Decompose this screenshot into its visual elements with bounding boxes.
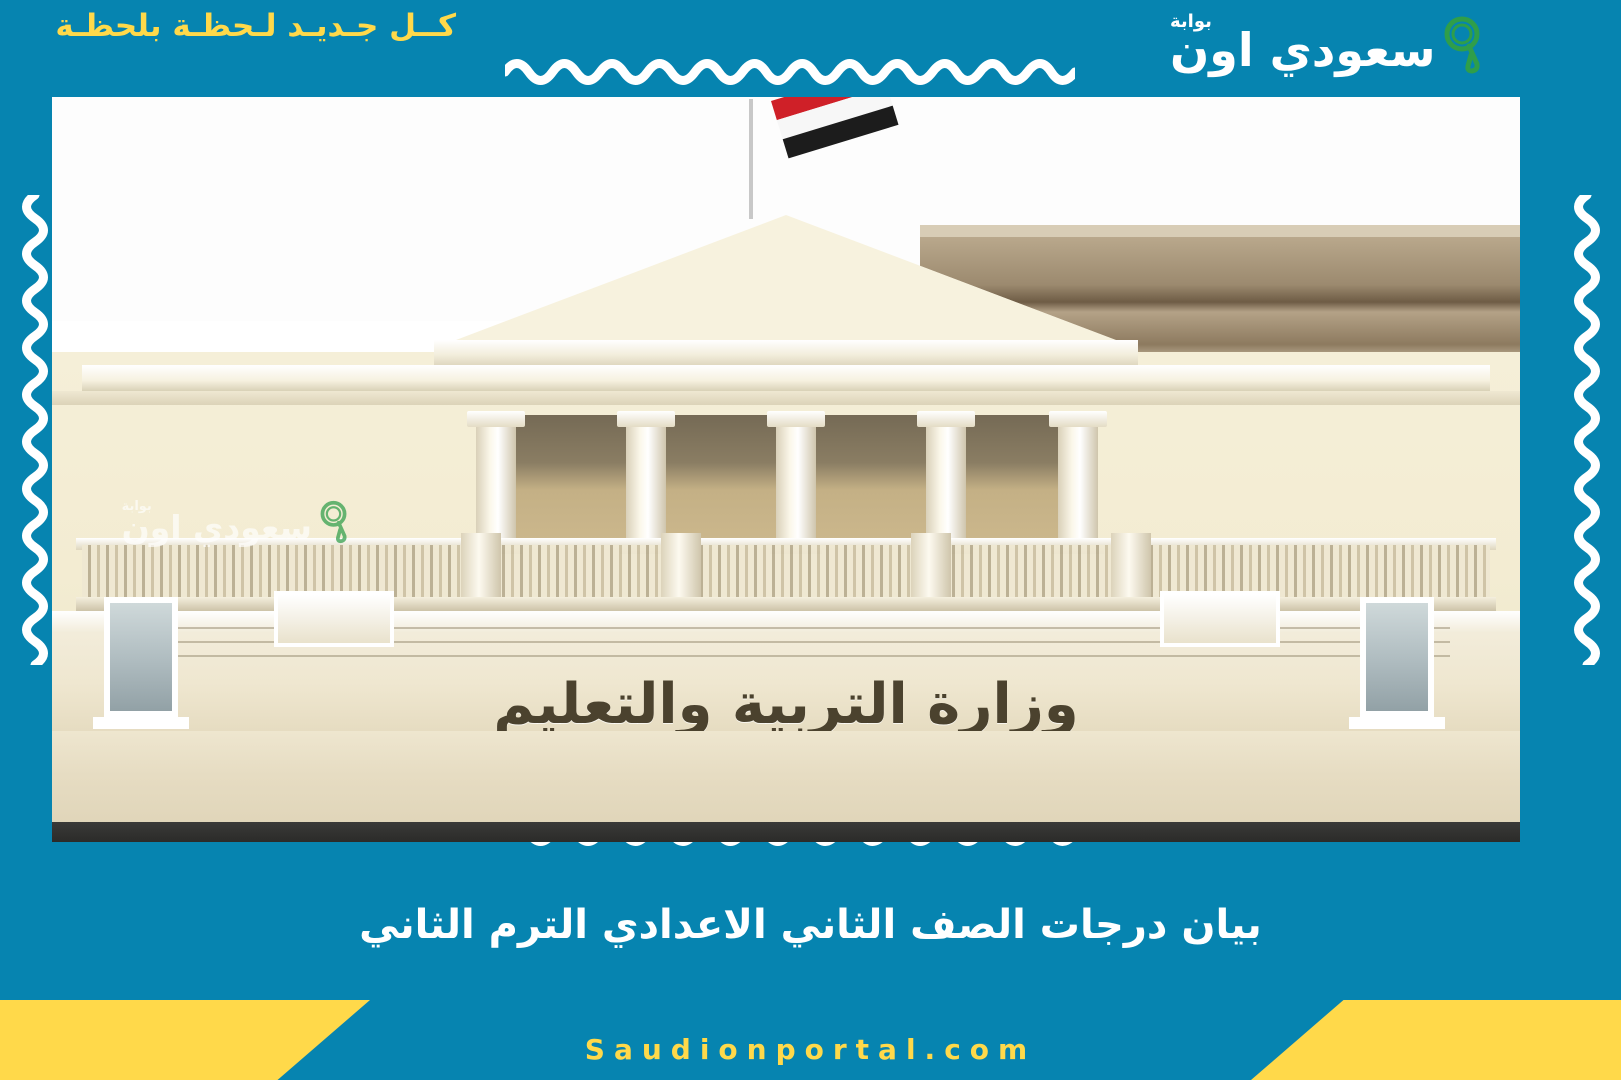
column <box>626 413 666 548</box>
window-sill <box>93 717 189 729</box>
flag-pole <box>749 99 753 219</box>
brand-title: سعودي اون <box>1170 27 1435 73</box>
cornice-upper <box>82 365 1490 391</box>
tagline: كــل جـديـد لـحظـة بلحظـة <box>36 8 456 44</box>
balustrade-pier <box>1111 533 1151 605</box>
column <box>476 413 516 548</box>
wave-top-decoration <box>505 55 1075 89</box>
watermark-title: سعودي اون <box>122 511 312 544</box>
site-url[interactable]: Saudionportal.com <box>0 1033 1621 1066</box>
article-photo: وزارة التربية والتعليم <box>52 97 1520 842</box>
window <box>104 597 178 717</box>
ministry-sign-text: وزارة التربية والتعليم <box>52 672 1520 737</box>
photo-watermark: بوابة سعودي اون <box>52 487 352 557</box>
wave-left-decoration <box>18 195 52 665</box>
pediment <box>456 215 1116 340</box>
balustrade-pier <box>461 533 501 605</box>
wall-panel <box>274 591 394 647</box>
cornice-lower <box>52 391 1520 405</box>
pediment-band <box>434 340 1138 366</box>
news-card: كــل جـديـد لـحظـة بلحظـة بوابة سعودي او… <box>0 0 1621 1080</box>
caption-text: بيان درجات الصف الثاني الاعدادي الترم ال… <box>359 902 1262 948</box>
window-sill <box>1349 717 1445 729</box>
photo-bottom-strip <box>52 822 1520 842</box>
caption: بيان درجات الصف الثاني الاعدادي الترم ال… <box>0 890 1621 960</box>
window <box>1360 597 1434 717</box>
column <box>776 413 816 548</box>
balustrade-pier <box>911 533 951 605</box>
column <box>926 413 966 548</box>
wall-panel <box>1160 591 1280 647</box>
brand-logo[interactable]: بوابة سعودي اون <box>1170 0 1610 86</box>
ministry-building-image: وزارة التربية والتعليم <box>52 97 1520 842</box>
magnifier-icon <box>1441 14 1487 76</box>
magnifier-icon <box>318 499 352 545</box>
balustrade-pier <box>661 533 701 605</box>
column <box>1058 413 1098 548</box>
wave-right-decoration <box>1570 195 1604 665</box>
